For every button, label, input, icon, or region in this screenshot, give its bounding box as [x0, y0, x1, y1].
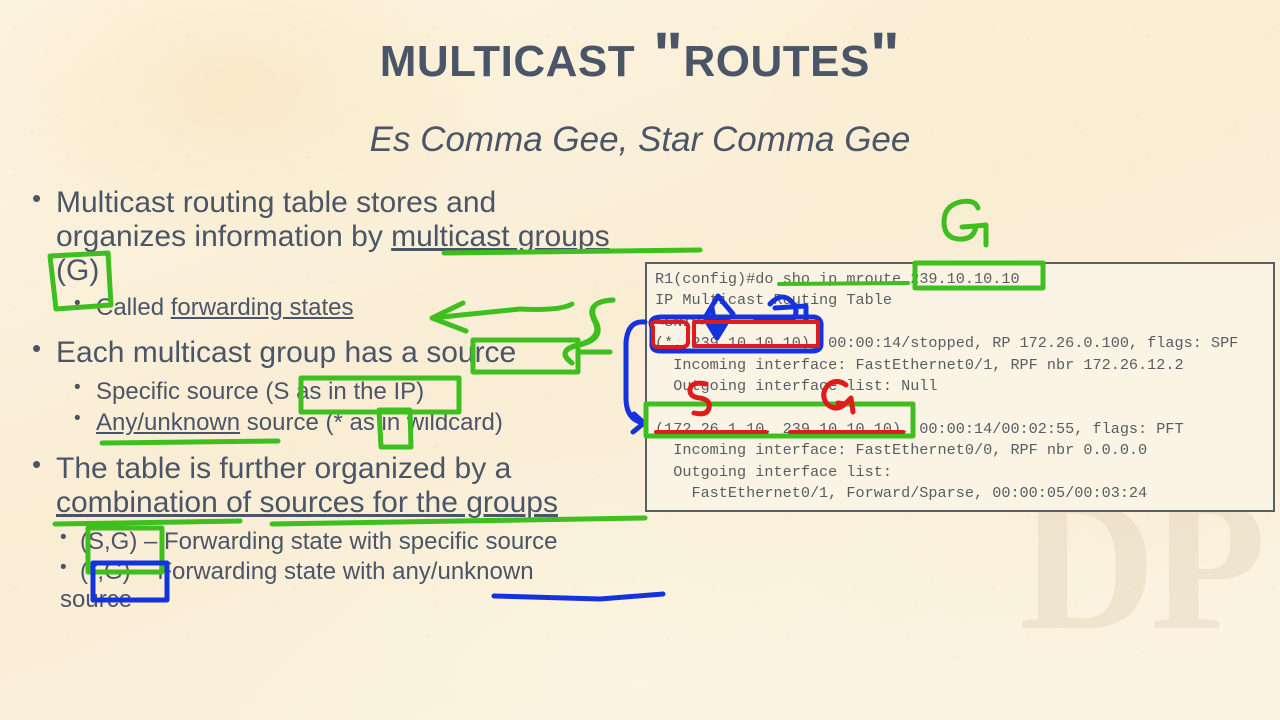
bullet-item-1: Multicast routing table stores and organ… — [28, 186, 728, 288]
bullet-item-7: (S,G) – Forwarding state with specific s… — [28, 528, 728, 557]
bullet-5-rest: source (* as in wildcard) — [240, 409, 503, 436]
bullet-6-line-a: The table is further organized by a — [56, 452, 511, 485]
cli-line-8: Incoming interface: FastEthernet0/0, RPF… — [655, 441, 1147, 459]
bullet-1-line-c: (G) — [56, 254, 99, 287]
cli-line-10: FastEthernet0/1, Forward/Sparse, 00:00:0… — [655, 484, 1147, 502]
cli-line-1: IP Multicast Routing Table — [655, 291, 892, 309]
bullet-6-underlined-term: combination of sources for the groups — [56, 486, 558, 519]
slide-footer: 9/6/16 All Rights Reserved 2016 Decoding… — [0, 660, 1280, 720]
bullet-5-underlined-term: Any/unknown — [96, 409, 240, 436]
page-title: Multicast "Routes" — [0, 22, 1280, 88]
cli-line-2: <SNIP> — [655, 313, 710, 331]
cli-line-5: Outgoing interface list: Null — [655, 377, 938, 395]
bullet-1-line-a: Multicast routing table stores and — [56, 186, 496, 219]
slide-canvas: DP Multicast "Routes" Es Comma Gee, Star… — [0, 0, 1280, 720]
bullet-2-prefix: Called — [96, 294, 171, 321]
cli-line-0: R1(config)#do sho ip mroute 239.10.10.10 — [655, 270, 1020, 288]
bullet-list: Multicast routing table stores and organ… — [28, 186, 728, 616]
bullet-item-2: Called forwarding states — [28, 294, 728, 323]
bullet-1-underlined-term: multicast groups — [391, 220, 609, 253]
page-subtitle: Es Comma Gee, Star Comma Gee — [0, 120, 1280, 160]
bullet-1-line-b: organizes information by — [56, 220, 391, 253]
bullet-item-4: Specific source (S as in the IP) — [28, 378, 728, 407]
bullet-8-line-a: (*,G) – Forwarding state with any/unknow… — [80, 558, 534, 585]
green-letter-G-above-group-icon — [944, 201, 986, 245]
bullet-item-6: The table is further organized by a comb… — [28, 452, 728, 520]
cli-line-3: (*, 239.10.10.10), 00:00:14/stopped, RP … — [655, 334, 1238, 352]
cli-line-4: Incoming interface: FastEthernet0/1, RPF… — [655, 356, 1184, 374]
cli-line-9: Outgoing interface list: — [655, 463, 892, 481]
cli-line-7: (172.26.1.10, 239.10.10.10), 00:00:14/00… — [655, 420, 1184, 438]
bullet-2-underlined-term: forwarding states — [171, 294, 354, 321]
bullet-item-3: Each multicast group has a source — [28, 336, 728, 370]
cli-output-panel: R1(config)#do sho ip mroute 239.10.10.10… — [645, 262, 1275, 512]
bullet-8-line-b: source — [60, 586, 132, 615]
bullet-item-5: Any/unknown source (* as in wildcard) — [28, 409, 728, 438]
bullet-item-8: (*,G) – Forwarding state with any/unknow… — [28, 558, 728, 616]
